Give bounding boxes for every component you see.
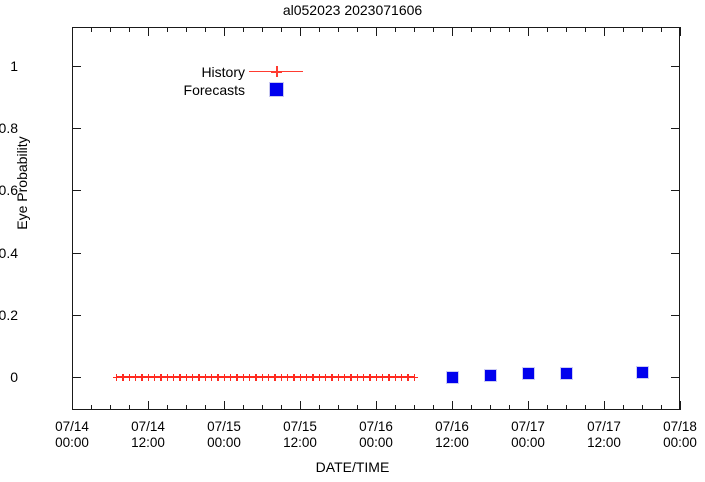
y-tick-label: 1 xyxy=(10,59,18,73)
cross-marker-icon xyxy=(271,66,282,77)
x-tick-mark-minor xyxy=(167,405,168,410)
y-tick-mark xyxy=(72,66,81,67)
x-tick-mark-minor xyxy=(547,405,548,410)
x-tick-mark-minor xyxy=(243,27,244,32)
y-tick-mark xyxy=(671,253,680,254)
x-tick-mark-minor xyxy=(547,27,548,32)
x-tick-mark-major xyxy=(148,401,149,410)
chart-figure: al052023 2023071606 Eye Probability DATE… xyxy=(0,0,705,482)
x-tick-mark-minor xyxy=(338,27,339,32)
x-tick-mark-minor xyxy=(319,405,320,410)
x-tick-mark-minor xyxy=(262,27,263,32)
y-tick-mark xyxy=(671,315,680,316)
x-tick-mark-minor xyxy=(490,27,491,32)
forecast-data-point xyxy=(560,367,573,380)
y-tick-mark xyxy=(72,190,81,191)
x-tick-mark-major xyxy=(300,401,301,410)
x-tick-mark-minor xyxy=(281,405,282,410)
x-tick-mark-minor xyxy=(262,405,263,410)
x-tick-mark-minor xyxy=(167,27,168,32)
x-tick-mark-major xyxy=(452,401,453,410)
y-tick-mark xyxy=(72,377,81,378)
chart-legend: History Forecasts xyxy=(168,63,303,103)
x-tick-mark-minor xyxy=(623,27,624,32)
x-tick-mark-minor xyxy=(414,27,415,32)
x-tick-mark-minor xyxy=(357,27,358,32)
y-tick-mark xyxy=(671,128,680,129)
x-tick-mark-major xyxy=(224,27,225,36)
x-tick-mark-minor xyxy=(186,405,187,410)
x-tick-mark-minor xyxy=(642,27,643,32)
legend-label-history: History xyxy=(201,63,245,81)
x-tick-mark-major xyxy=(680,401,681,410)
x-axis-label: DATE/TIME xyxy=(0,459,705,476)
x-tick-mark-minor xyxy=(110,27,111,32)
y-tick-label: 0.4 xyxy=(0,246,18,260)
x-tick-mark-minor xyxy=(357,405,358,410)
x-tick-mark-minor xyxy=(186,27,187,32)
legend-entry-history: History xyxy=(168,63,303,81)
y-tick-mark xyxy=(72,128,81,129)
x-tick-mark-minor xyxy=(566,405,567,410)
x-tick-mark-minor xyxy=(642,405,643,410)
y-tick-mark xyxy=(671,377,680,378)
x-tick-mark-minor xyxy=(661,27,662,32)
x-tick-mark-minor xyxy=(395,405,396,410)
forecast-data-point xyxy=(446,371,459,384)
x-tick-mark-minor xyxy=(110,405,111,410)
x-tick-mark-major xyxy=(680,27,681,36)
x-tick-mark-major xyxy=(452,27,453,36)
x-tick-mark-major xyxy=(604,401,605,410)
x-tick-mark-minor xyxy=(623,405,624,410)
legend-key-history-line xyxy=(249,63,303,81)
x-tick-mark-minor xyxy=(91,405,92,410)
y-tick-label: 0.6 xyxy=(0,183,18,197)
x-tick-mark-minor xyxy=(319,27,320,32)
x-tick-mark-minor xyxy=(91,27,92,32)
x-tick-mark-major xyxy=(604,27,605,36)
x-tick-mark-minor xyxy=(433,405,434,410)
x-tick-mark-minor xyxy=(129,27,130,32)
x-tick-mark-minor xyxy=(585,405,586,410)
x-tick-mark-minor xyxy=(338,405,339,410)
x-tick-mark-minor xyxy=(471,405,472,410)
x-tick-mark-major xyxy=(376,27,377,36)
forecast-data-point xyxy=(522,367,535,380)
y-tick-mark xyxy=(671,66,680,67)
x-tick-mark-major xyxy=(224,401,225,410)
chart-title: al052023 2023071606 xyxy=(0,1,705,19)
x-tick-mark-major xyxy=(376,401,377,410)
x-tick-mark-major xyxy=(72,27,73,36)
x-tick-mark-major xyxy=(528,27,529,36)
x-tick-label: 07/1800:00 xyxy=(635,419,705,451)
forecast-data-point xyxy=(484,369,497,382)
x-tick-mark-minor xyxy=(395,27,396,32)
history-data-point xyxy=(411,374,418,381)
x-tick-mark-minor xyxy=(490,405,491,410)
x-tick-mark-minor xyxy=(509,405,510,410)
square-marker-icon xyxy=(269,82,284,97)
x-tick-mark-major xyxy=(72,401,73,410)
legend-entry-forecasts: Forecasts xyxy=(168,81,303,99)
x-tick-mark-minor xyxy=(243,405,244,410)
x-tick-mark-minor xyxy=(585,27,586,32)
x-tick-mark-major xyxy=(148,27,149,36)
x-tick-mark-minor xyxy=(433,27,434,32)
x-tick-mark-minor xyxy=(281,27,282,32)
x-tick-mark-minor xyxy=(661,405,662,410)
y-tick-label: 0 xyxy=(10,370,18,384)
x-tick-mark-major xyxy=(300,27,301,36)
y-tick-label: 0.2 xyxy=(0,308,18,322)
x-tick-mark-minor xyxy=(566,27,567,32)
legend-key-forecast-square xyxy=(249,81,303,99)
legend-label-forecasts: Forecasts xyxy=(184,81,245,99)
forecast-data-point xyxy=(636,366,649,379)
y-tick-mark xyxy=(72,253,81,254)
y-tick-mark xyxy=(72,315,81,316)
x-tick-mark-minor xyxy=(129,405,130,410)
y-tick-mark xyxy=(671,190,680,191)
plot-area: History Forecasts xyxy=(72,27,680,410)
x-tick-mark-major xyxy=(528,401,529,410)
x-tick-mark-minor xyxy=(509,27,510,32)
x-tick-mark-minor xyxy=(414,405,415,410)
y-tick-label: 0.8 xyxy=(0,121,18,135)
x-tick-mark-minor xyxy=(205,405,206,410)
x-tick-mark-minor xyxy=(471,27,472,32)
x-tick-mark-minor xyxy=(205,27,206,32)
